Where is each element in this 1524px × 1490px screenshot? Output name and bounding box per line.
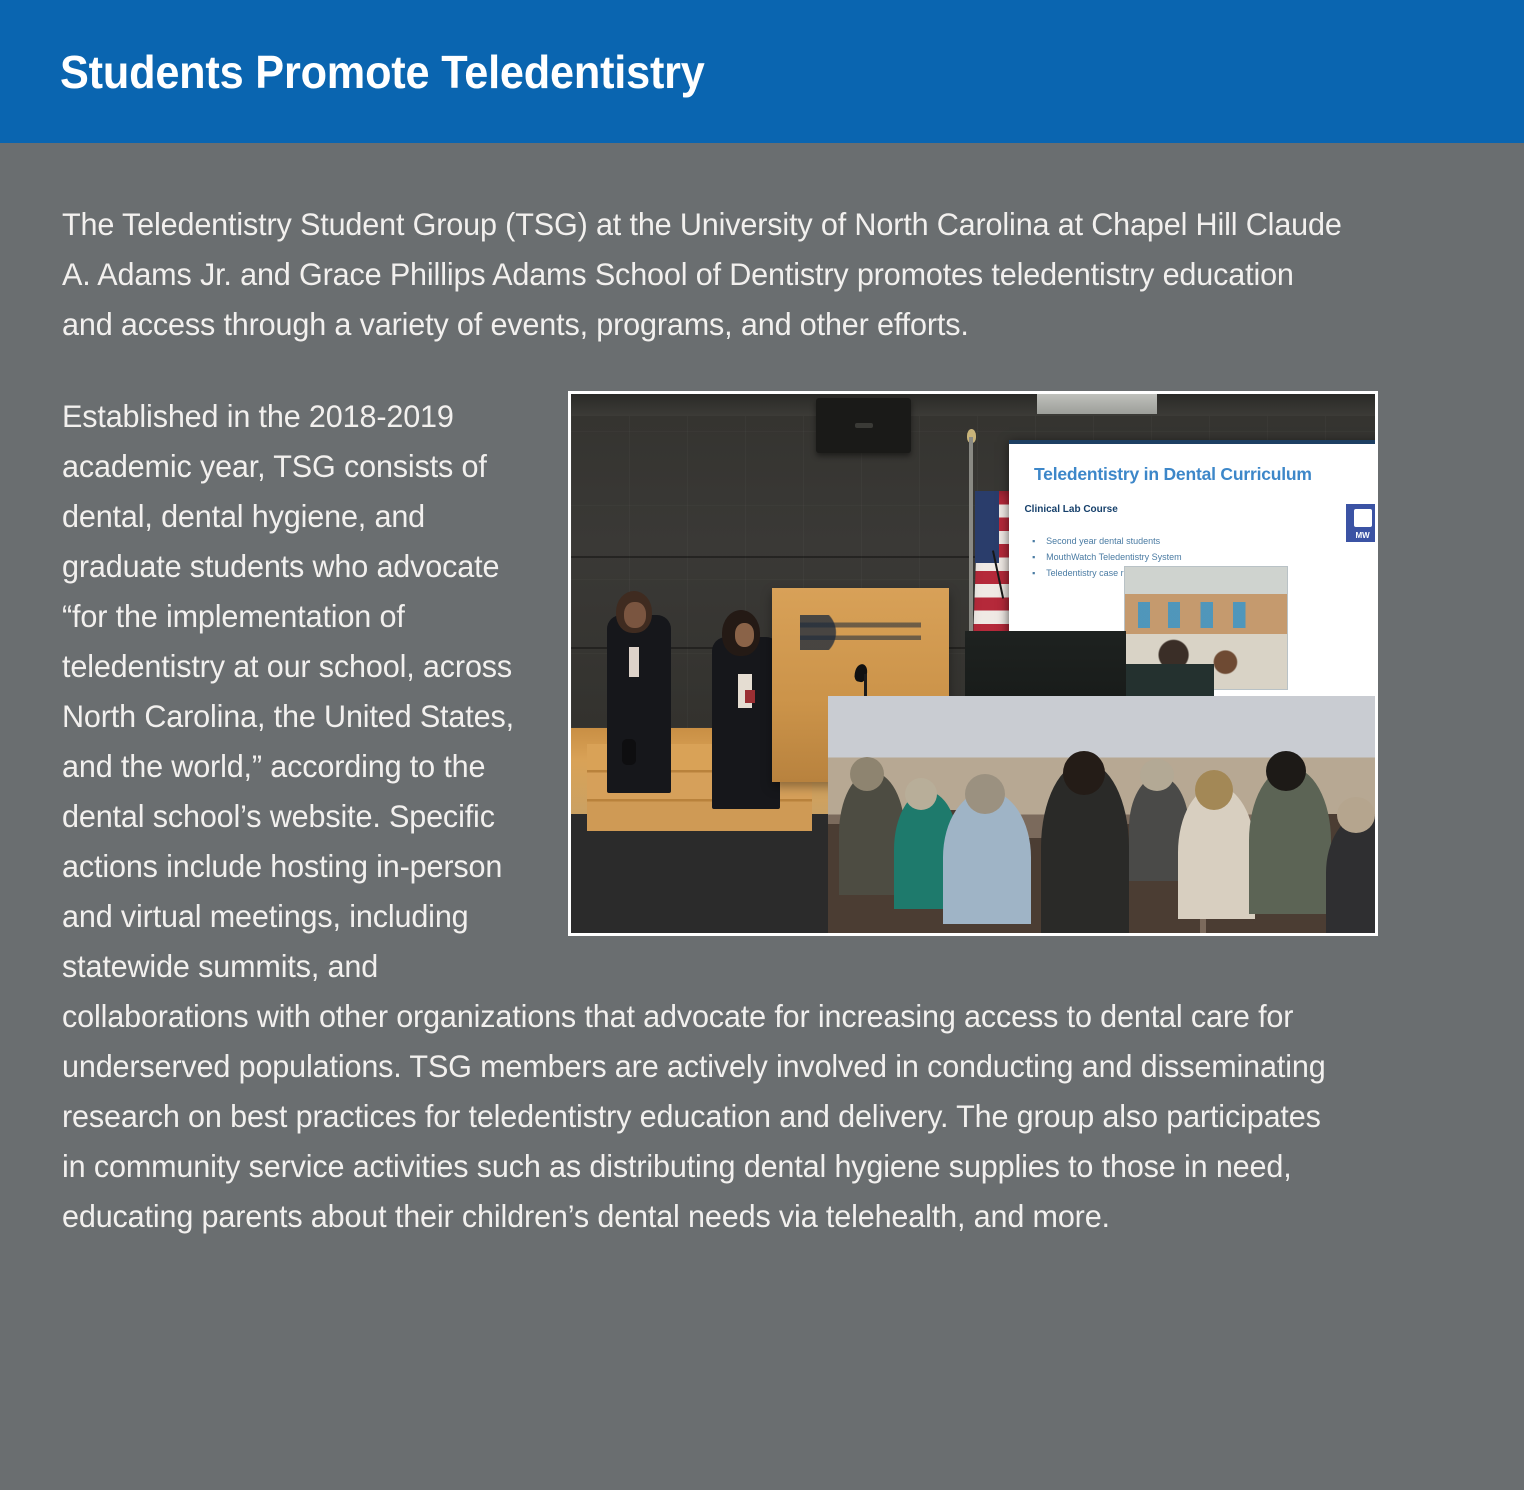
page-body: The Teledentistry Student Group (TSG) at…: [0, 143, 1524, 1490]
body-paragraph: Established in the 2018-2019 academic ye…: [62, 391, 1339, 1241]
page-title: Students Promote Teledentistry: [60, 49, 705, 95]
page-header-band: Students Promote Teledentistry: [0, 0, 1524, 143]
mouthwatch-logo-icon: MW: [1346, 504, 1375, 542]
audience-member-head: [1337, 797, 1375, 833]
intro-paragraph: The Teledentistry Student Group (TSG) at…: [62, 143, 1342, 349]
article-flow-region: Teledentistry in Dental Curriculum Clini…: [62, 391, 1378, 1241]
